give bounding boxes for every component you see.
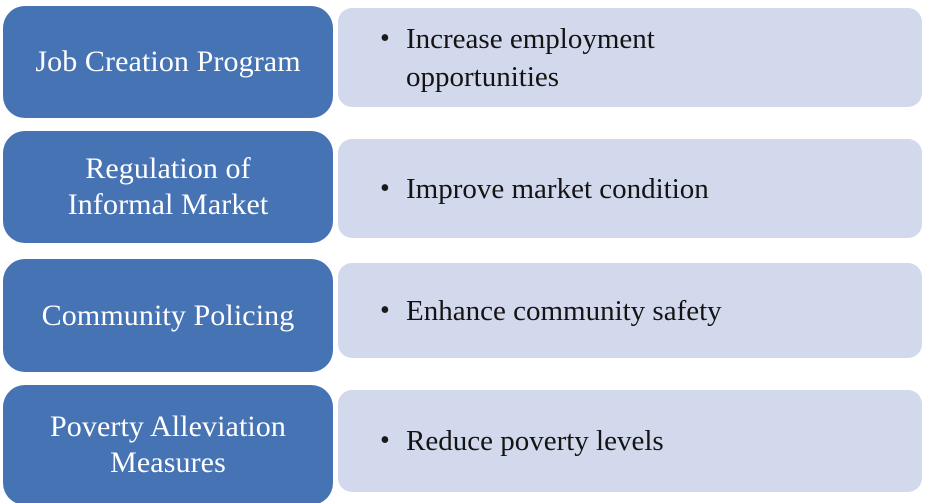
row-label-box-poverty-alleviation-measures[interactable]: Poverty Alleviation Measures [3,385,333,503]
bullet-text: Enhance community safety [406,292,722,330]
row-label-box-job-creation-program[interactable]: Job Creation Program [3,6,333,118]
bullet-text: Improve market condition [406,170,709,208]
row-detail-box-regulation-of-informal-market[interactable]: • Improve market condition [338,139,922,238]
row-label-box-regulation-of-informal-market[interactable]: Regulation of Informal Market [3,131,333,243]
list-item: • Increase employment opportunities [338,20,756,96]
list-item: • Improve market condition [338,170,729,208]
row-label-box-community-policing[interactable]: Community Policing [3,259,333,372]
row-label-text: Job Creation Program [35,44,300,80]
row-label-text: Community Policing [42,298,295,334]
row-detail-box-poverty-alleviation-measures[interactable]: • Reduce poverty levels [338,390,922,492]
bullet-text: Increase employment opportunities [406,20,736,96]
bullet-point-icon: • [380,422,406,460]
row-detail-box-job-creation-program[interactable]: • Increase employment opportunities [338,8,922,107]
bullet-text: Reduce poverty levels [406,422,664,460]
bullet-point-icon: • [380,292,406,330]
bullet-point-icon: • [380,20,406,58]
bullet-point-icon: • [380,170,406,208]
row-label-text: Regulation of Informal Market [68,151,269,223]
list-item: • Reduce poverty levels [338,422,684,460]
diagram-canvas: Job Creation Program • Increase employme… [0,0,925,503]
row-label-text: Poverty Alleviation Measures [50,409,286,481]
row-detail-box-community-policing[interactable]: • Enhance community safety [338,263,922,358]
list-item: • Enhance community safety [338,292,742,330]
